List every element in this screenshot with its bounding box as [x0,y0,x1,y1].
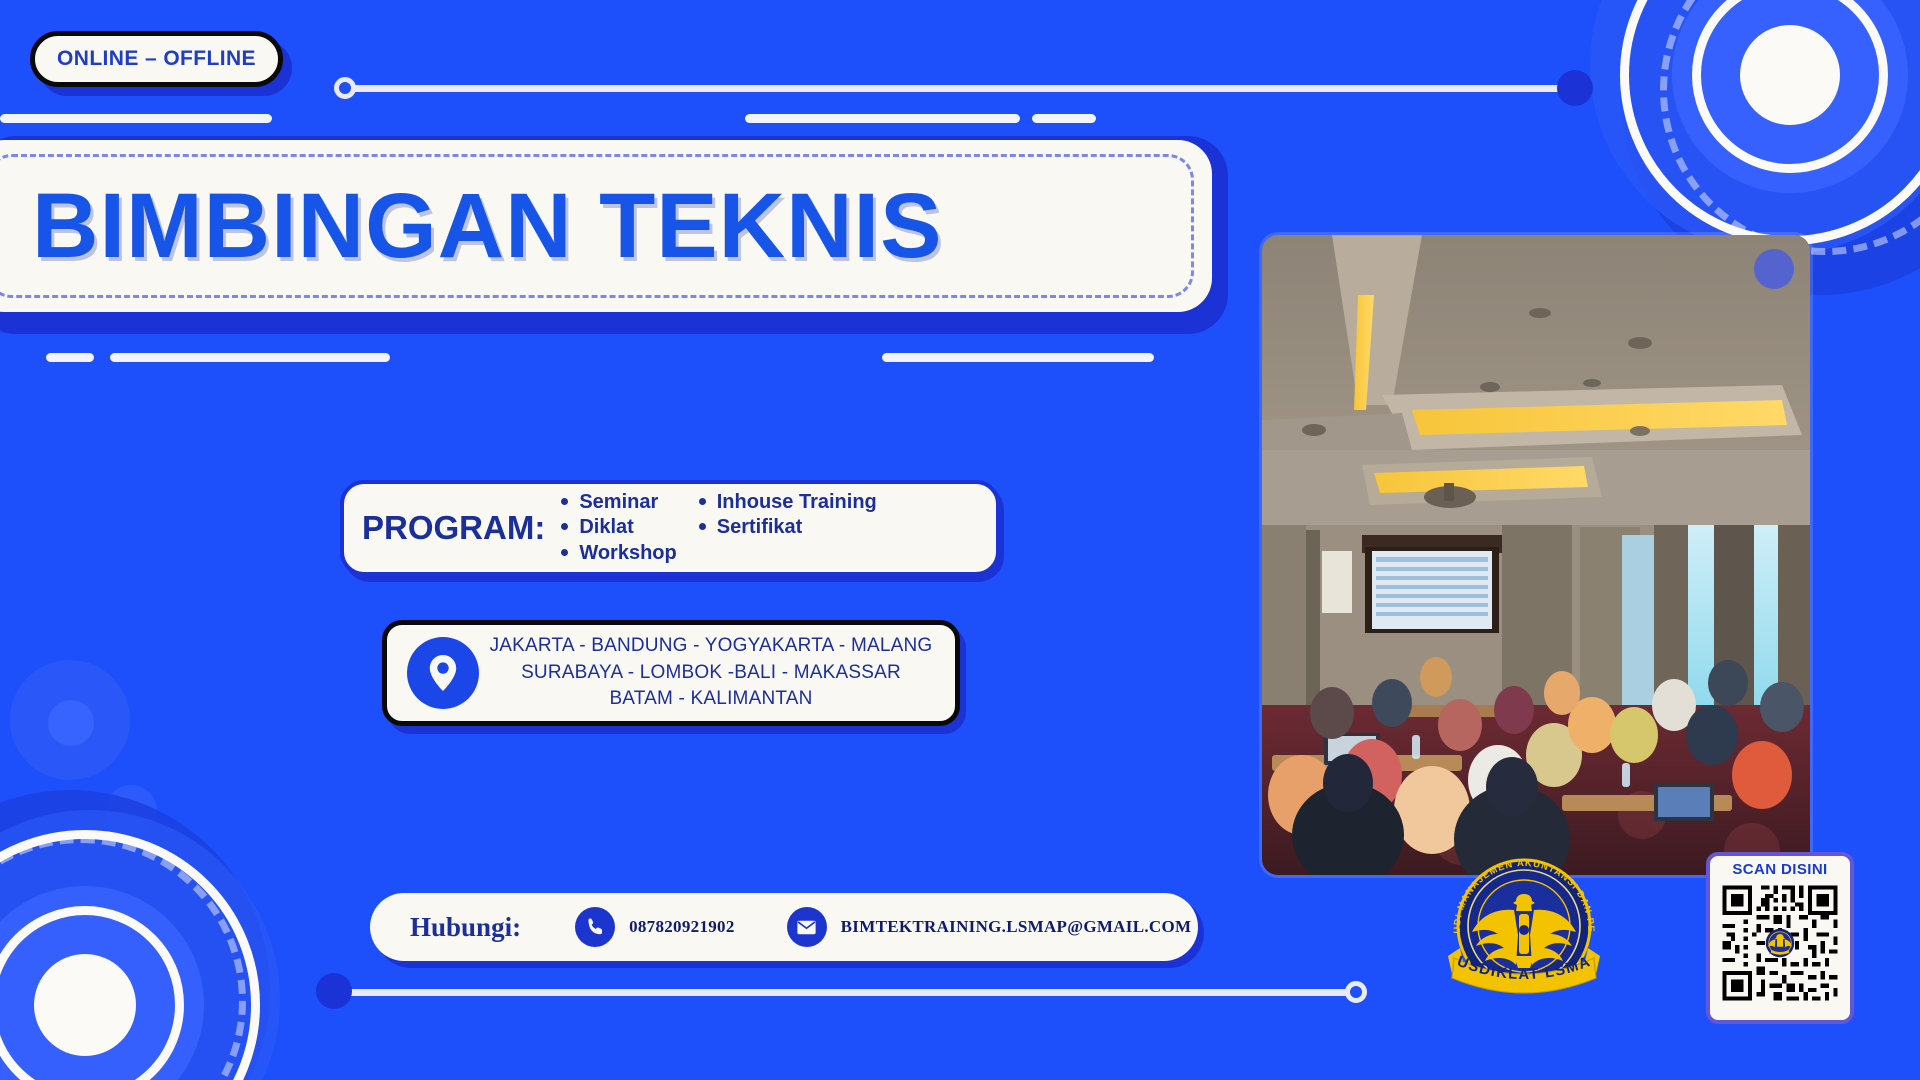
scan-here-label: SCAN DISINI [1732,861,1827,878]
pusdiklat-lsmap-seal: LEMBAGA STUDI MANAJEMEN AKUNTANSI DAN PE… [1438,838,1610,1006]
page-title: BIMBINGAN TEKNIS [32,180,942,272]
bottom-connector-line [320,989,1365,996]
top-connector-line [345,85,1580,92]
program-item: Diklat [561,515,676,540]
program-list-column-one: Seminar Diklat Workshop [561,490,676,566]
program-item: Sertifikat [699,515,877,540]
map-pin-icon [407,637,479,709]
decorative-rings-bottom-left [0,790,310,1080]
contact-email[interactable]: BIMTEKTRAINING.LSMAP@GMAIL.COM [787,907,1192,947]
decorative-circle [48,700,94,746]
location-line: JAKARTA - BANDUNG - YOGYAKARTA - MALANG [485,633,937,660]
decorative-dash [110,353,390,362]
program-item: Seminar [561,490,676,515]
bottom-connector-dot [316,973,352,1009]
program-list-column-two: Inhouse Training Sertifikat [699,490,877,566]
contact-bar: Hubungi: 087820921902 BIMTEKTRAINING.LSM… [370,893,1198,961]
location-box: JAKARTA - BANDUNG - YOGYAKARTA - MALANG … [382,620,960,726]
location-line: SURABAYA - LOMBOK -BALI - MAKASSAR [485,660,937,687]
email-address: BIMTEKTRAINING.LSMAP@GMAIL.COM [841,917,1192,937]
decorative-dash [1032,114,1096,123]
poster-canvas: ONLINE – OFFLINE BIMBINGAN TEKNIS PROGRA… [0,0,1920,1080]
decorative-dash [0,114,272,123]
contact-phone[interactable]: 087820921902 [575,907,735,947]
location-line: BATAM - KALIMANTAN [485,686,937,713]
contact-label: Hubungi: [410,912,521,943]
envelope-icon [787,907,827,947]
bottom-connector-ring [1345,981,1367,1003]
decorative-dash [745,114,1020,123]
phone-icon [575,907,615,947]
top-connector-ring [334,77,356,99]
decorative-dash [46,353,94,362]
top-connector-dot [1557,70,1593,106]
program-label: PROGRAM: [362,509,545,547]
program-item: Workshop [561,541,676,566]
online-offline-label: ONLINE – OFFLINE [57,47,256,71]
decorative-dash [882,353,1154,362]
location-lines: JAKARTA - BANDUNG - YOGYAKARTA - MALANG … [485,633,955,714]
qr-center-logo [1765,928,1795,958]
title-banner: BIMBINGAN TEKNIS [0,140,1212,312]
qr-card[interactable]: SCAN DISINI [1706,852,1854,1024]
seminar-photo [1262,235,1810,875]
phone-number: 087820921902 [629,917,735,937]
decorative-circle [1754,249,1794,289]
program-item: Inhouse Training [699,490,877,515]
qr-code[interactable] [1718,881,1842,1005]
online-offline-badge[interactable]: ONLINE – OFFLINE [30,31,283,87]
program-box: PROGRAM: Seminar Diklat Workshop Inhouse… [340,480,1000,576]
